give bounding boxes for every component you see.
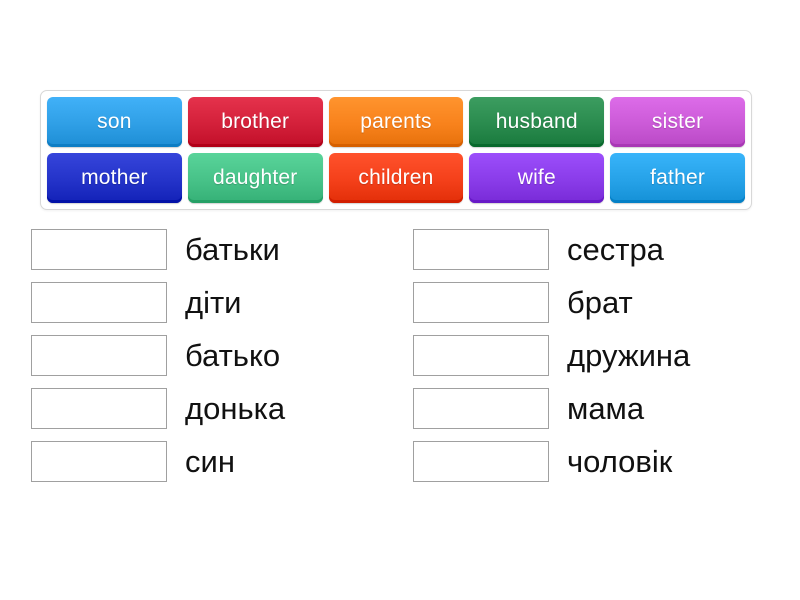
- drop-box[interactable]: [413, 441, 549, 482]
- drop-box[interactable]: [413, 282, 549, 323]
- term-label: мама: [567, 393, 644, 424]
- activity-page: son brother parents husband sister mothe…: [0, 0, 800, 600]
- term-label: син: [185, 446, 235, 477]
- drop-box[interactable]: [413, 388, 549, 429]
- word-tile-wife[interactable]: wife: [469, 153, 604, 203]
- answer-row: донька: [31, 387, 400, 430]
- answer-row: чоловік: [413, 440, 800, 483]
- answer-row: брат: [413, 281, 800, 324]
- term-label: батьки: [185, 234, 280, 265]
- answer-row: діти: [31, 281, 400, 324]
- term-label: чоловік: [567, 446, 672, 477]
- term-label: сестра: [567, 234, 664, 265]
- answer-column-left: батьки діти батько донька син: [0, 228, 400, 493]
- answer-column-right: сестра брат дружина мама чоловік: [400, 228, 800, 493]
- term-label: діти: [185, 287, 242, 318]
- drop-box[interactable]: [31, 441, 167, 482]
- answer-row: батько: [31, 334, 400, 377]
- word-tile-parents[interactable]: parents: [329, 97, 464, 147]
- word-tile-husband[interactable]: husband: [469, 97, 604, 147]
- answer-row: сестра: [413, 228, 800, 271]
- term-label: донька: [185, 393, 285, 424]
- answer-row: батьки: [31, 228, 400, 271]
- word-tile-daughter[interactable]: daughter: [188, 153, 323, 203]
- word-bank-row-1: son brother parents husband sister: [47, 97, 745, 147]
- answer-row: дружина: [413, 334, 800, 377]
- word-tile-children[interactable]: children: [329, 153, 464, 203]
- word-tile-brother[interactable]: brother: [188, 97, 323, 147]
- word-tile-father[interactable]: father: [610, 153, 745, 203]
- answer-row: мама: [413, 387, 800, 430]
- drop-box[interactable]: [31, 282, 167, 323]
- word-tile-mother[interactable]: mother: [47, 153, 182, 203]
- word-tile-son[interactable]: son: [47, 97, 182, 147]
- drop-box[interactable]: [413, 335, 549, 376]
- term-label: батько: [185, 340, 280, 371]
- word-tile-sister[interactable]: sister: [610, 97, 745, 147]
- word-bank-row-2: mother daughter children wife father: [47, 153, 745, 203]
- word-bank-panel: son brother parents husband sister mothe…: [40, 90, 752, 210]
- drop-box[interactable]: [413, 229, 549, 270]
- drop-box[interactable]: [31, 335, 167, 376]
- term-label: брат: [567, 287, 633, 318]
- drop-box[interactable]: [31, 388, 167, 429]
- answer-row: син: [31, 440, 400, 483]
- drop-box[interactable]: [31, 229, 167, 270]
- term-label: дружина: [567, 340, 690, 371]
- answer-columns: батьки діти батько донька син сест: [0, 228, 800, 493]
